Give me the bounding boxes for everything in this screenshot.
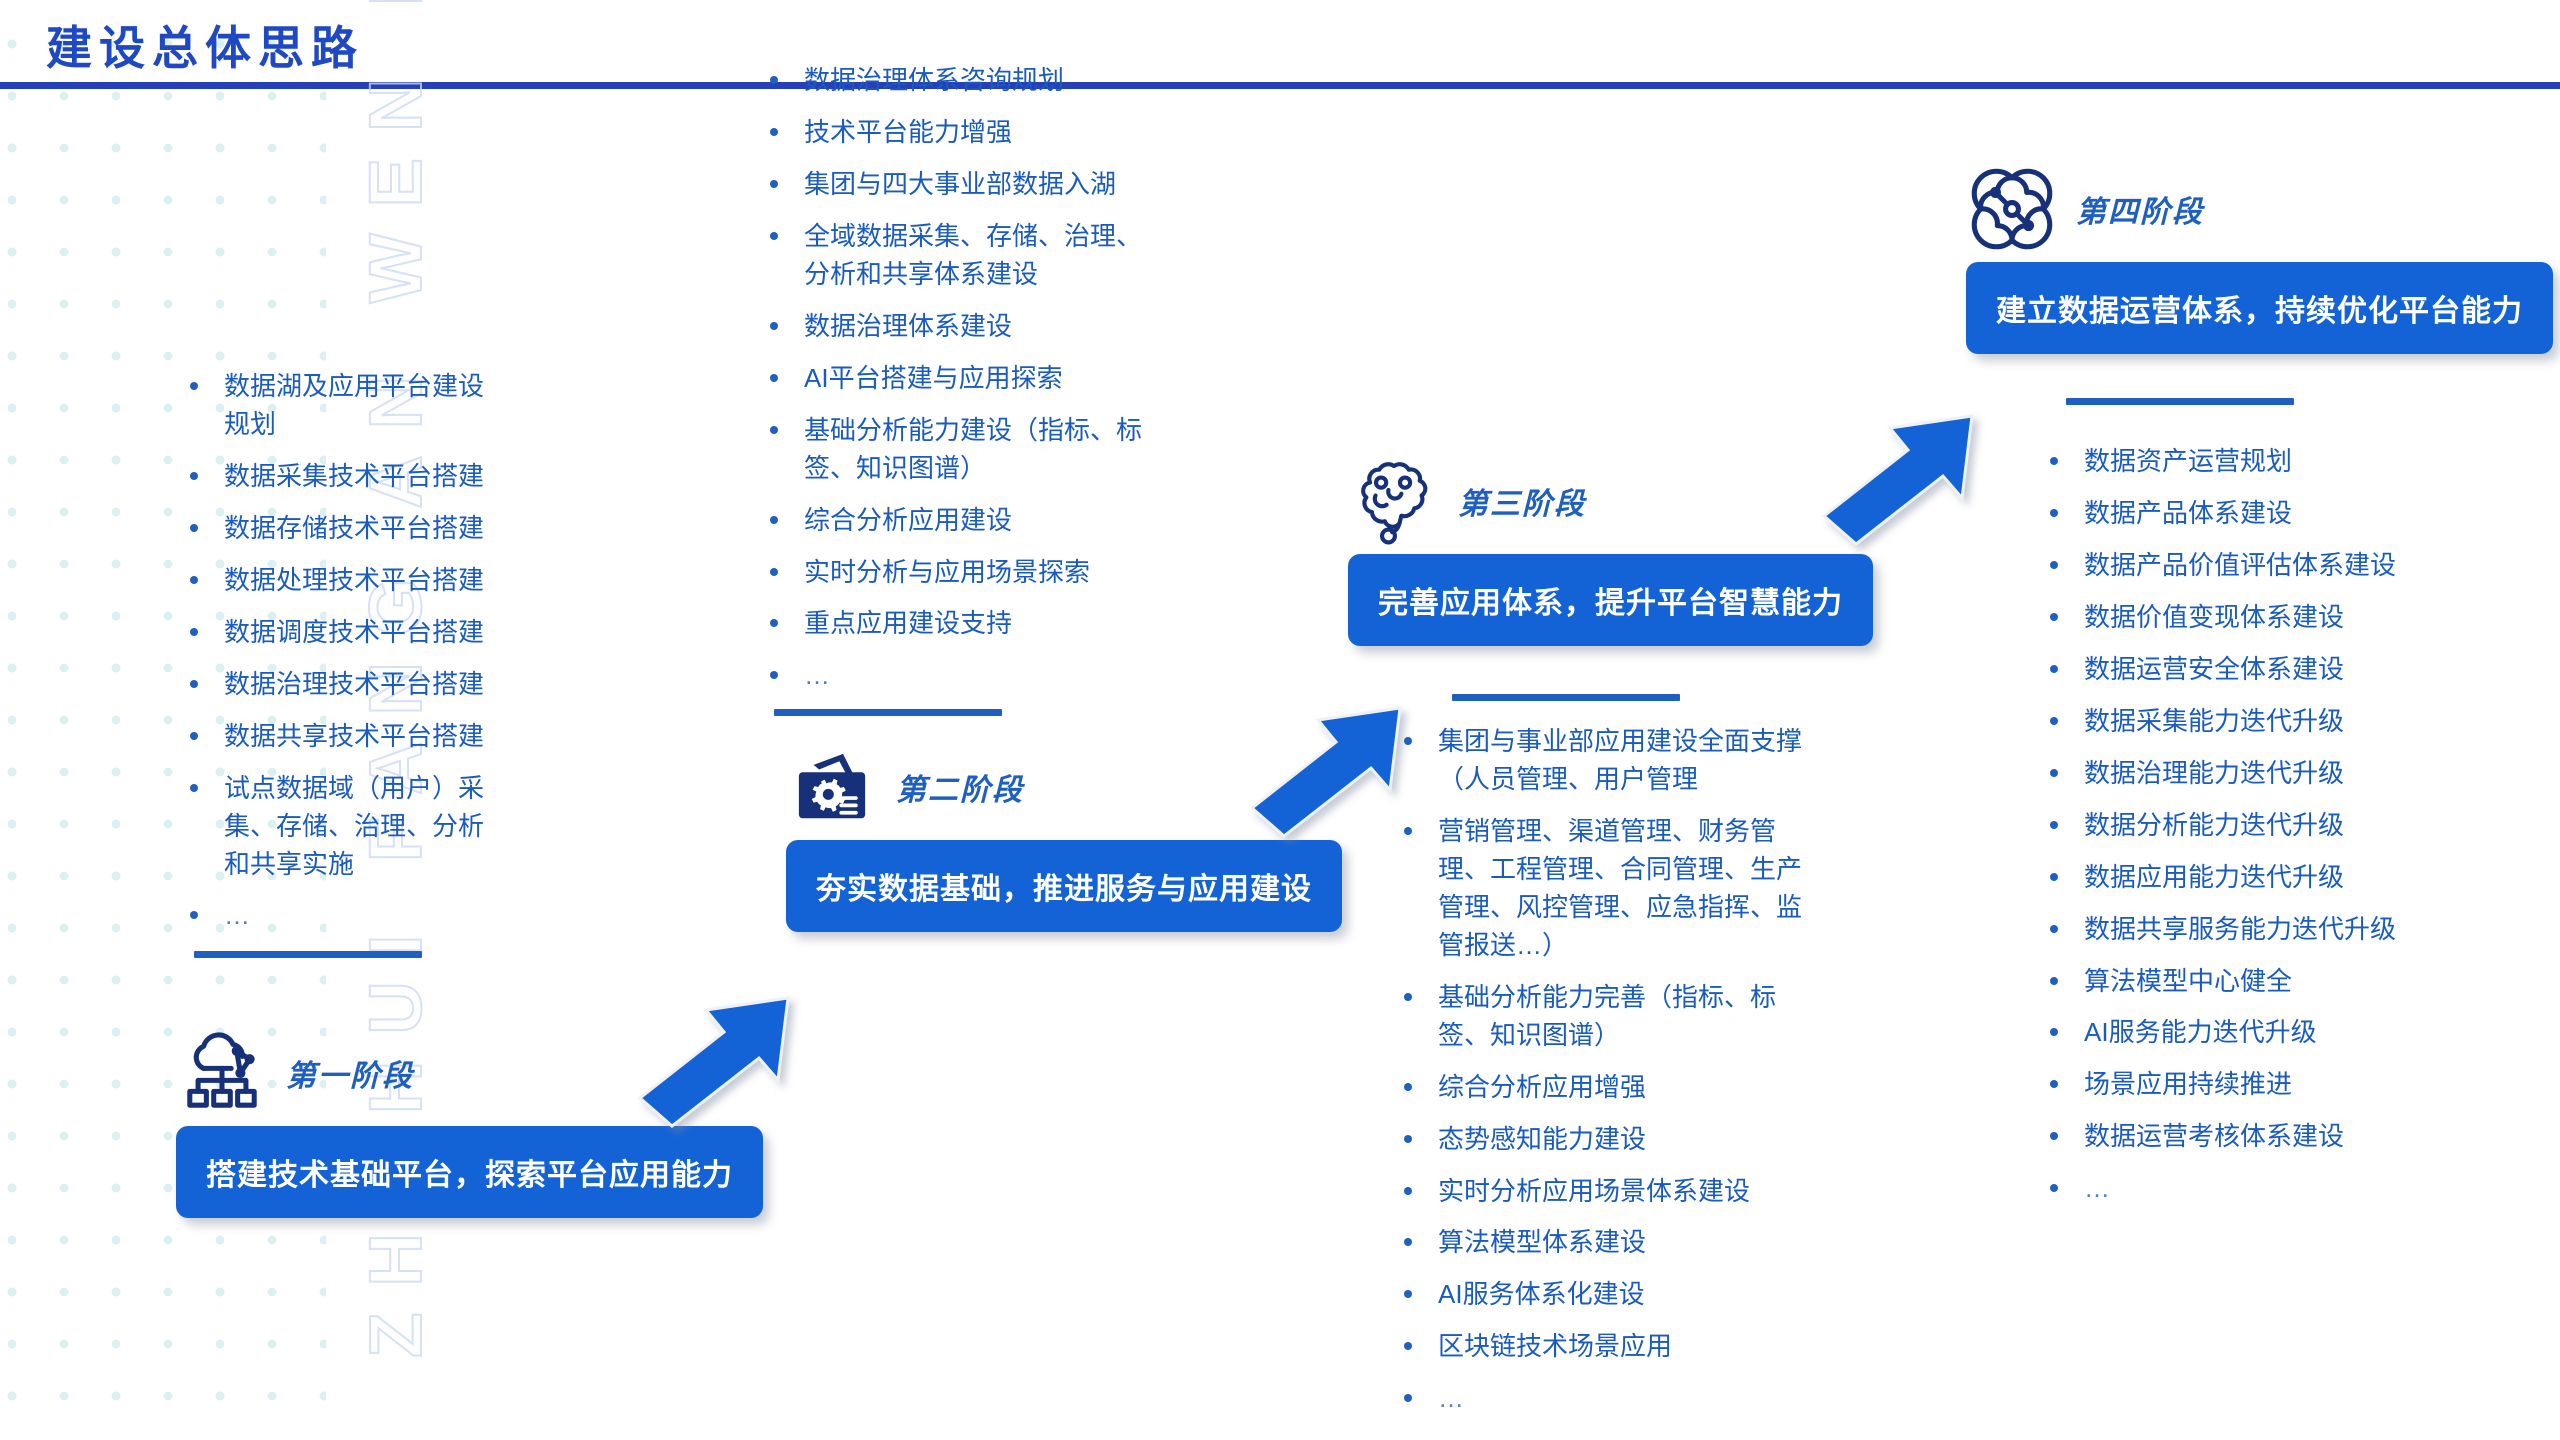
- list-item: 数据产品体系建设: [2042, 495, 2472, 533]
- stage-2-banner[interactable]: 夯实数据基础，推进服务与应用建设: [786, 840, 1342, 932]
- list-item: AI服务能力迭代升级: [2042, 1014, 2472, 1052]
- stage-4-column-divider: [2066, 398, 2294, 405]
- stage-3: 第三阶段 完善应用体系，提升平台智慧能力: [1348, 448, 1873, 646]
- list-item: AI平台搭建与应用探索: [762, 360, 1142, 398]
- stage-2-bullet-column: 数据治理体系咨询规划 技术平台能力增强 集团与四大事业部数据入湖 全域数据采集、…: [762, 62, 1142, 716]
- list-item: 综合分析应用增强: [1396, 1069, 1806, 1107]
- list-item: 数据调度技术平台搭建: [182, 614, 492, 652]
- page-title: 建设总体思路: [46, 12, 364, 78]
- list-item: 数据价值变现体系建设: [2042, 599, 2472, 637]
- list-item: 数据资产运营规划: [2042, 443, 2472, 481]
- list-item: 数据采集能力迭代升级: [2042, 703, 2472, 741]
- list-item: 算法模型中心健全: [2042, 963, 2472, 1001]
- list-item: 数据存储技术平台搭建: [182, 510, 492, 548]
- list-item: AI服务体系化建设: [1396, 1276, 1806, 1314]
- list-item: 实时分析应用场景体系建设: [1396, 1173, 1806, 1211]
- list-item: 数据治理能力迭代升级: [2042, 755, 2472, 793]
- list-item: 数据分析能力迭代升级: [2042, 807, 2472, 845]
- stage-1-bullet-list: 数据湖及应用平台建设规划 数据采集技术平台搭建 数据存储技术平台搭建 数据处理技…: [182, 368, 492, 935]
- stage-1-column-divider: [194, 951, 422, 958]
- toolbox-gear-icon: [786, 741, 878, 833]
- list-item: 数据采集技术平台搭建: [182, 458, 492, 496]
- list-item: …: [182, 897, 492, 935]
- list-item: 集团与四大事业部数据入湖: [762, 166, 1142, 204]
- atom-icon: [1966, 163, 2058, 255]
- stage-4-banner[interactable]: 建立数据运营体系，持续优化平台能力: [1966, 262, 2553, 354]
- list-item: 技术平台能力增强: [762, 114, 1142, 152]
- list-item: …: [2042, 1170, 2472, 1208]
- list-item: 重点应用建设支持: [762, 605, 1142, 643]
- list-item: 试点数据域（用户）采集、存储、治理、分析和共享实施: [182, 770, 492, 884]
- stage-2-bullet-list: 数据治理体系咨询规划 技术平台能力增强 集团与四大事业部数据入湖 全域数据采集、…: [762, 62, 1142, 695]
- list-item: 数据共享服务能力迭代升级: [2042, 911, 2472, 949]
- header-divider: [0, 82, 2560, 89]
- list-item: 数据应用能力迭代升级: [2042, 859, 2472, 897]
- stage-1-banner[interactable]: 搭建技术基础平台，探索平台应用能力: [176, 1126, 763, 1218]
- list-item: 基础分析能力完善（指标、标签、知识图谱）: [1396, 979, 1806, 1055]
- list-item: 数据运营考核体系建设: [2042, 1118, 2472, 1156]
- list-item: 综合分析应用建设: [762, 502, 1142, 540]
- list-item: 态势感知能力建设: [1396, 1121, 1806, 1159]
- list-item: 数据产品价值评估体系建设: [2042, 547, 2472, 585]
- stage-2-column-divider: [774, 709, 1002, 716]
- list-item: 数据治理技术平台搭建: [182, 666, 492, 704]
- arrow-stage2-to-stage3: [1240, 690, 1420, 840]
- arrow-stage3-to-stage4: [1812, 398, 1992, 548]
- list-item: 数据湖及应用平台建设规划: [182, 368, 492, 444]
- list-item: 场景应用持续推进: [2042, 1066, 2472, 1104]
- stage-3-column-divider: [1452, 694, 1680, 701]
- list-item: …: [762, 657, 1142, 695]
- stage-3-bullet-column: 集团与事业部应用建设全面支撑（人员管理、用户管理 营销管理、渠道管理、财务管理、…: [1396, 694, 1806, 1432]
- slide-header: 建设总体思路: [0, 0, 2560, 86]
- list-item: …: [1396, 1380, 1806, 1418]
- stage-3-label: 第三阶段: [1458, 479, 1586, 523]
- list-item: 数据共享技术平台搭建: [182, 718, 492, 756]
- arrow-stage1-to-stage2: [628, 980, 808, 1130]
- stage-3-bullet-list: 集团与事业部应用建设全面支撑（人员管理、用户管理 营销管理、渠道管理、财务管理、…: [1396, 723, 1806, 1418]
- stage-1-bullet-column: 数据湖及应用平台建设规划 数据采集技术平台搭建 数据存储技术平台搭建 数据处理技…: [182, 368, 492, 958]
- stage-1-label: 第一阶段: [286, 1051, 414, 1095]
- list-item: 数据治理体系建设: [762, 308, 1142, 346]
- list-item: 实时分析与应用场景探索: [762, 554, 1142, 592]
- stage-2-label: 第二阶段: [896, 765, 1024, 809]
- cloud-network-icon: [176, 1027, 268, 1119]
- brain-icon: [1348, 455, 1440, 547]
- stage-3-header: 第三阶段: [1348, 448, 1873, 554]
- list-item: 区块链技术场景应用: [1396, 1328, 1806, 1366]
- stage-4-bullet-column: 数据资产运营规划 数据产品体系建设 数据产品价值评估体系建设 数据价值变现体系建…: [2042, 398, 2472, 1222]
- slide-root: 建设总体思路 ZHI HUI FANG AN WEN KU 数据湖及应用平台建设…: [0, 0, 2560, 1440]
- list-item: 营销管理、渠道管理、财务管理、工程管理、合同管理、生产管理、风控管理、应急指挥、…: [1396, 813, 1806, 965]
- list-item: 全域数据采集、存储、治理、分析和共享体系建设: [762, 218, 1142, 294]
- stage-4-bullet-list: 数据资产运营规划 数据产品体系建设 数据产品价值评估体系建设 数据价值变现体系建…: [2042, 443, 2472, 1208]
- list-item: 数据处理技术平台搭建: [182, 562, 492, 600]
- list-item: 基础分析能力建设（指标、标签、知识图谱）: [762, 412, 1142, 488]
- list-item: 集团与事业部应用建设全面支撑（人员管理、用户管理: [1396, 723, 1806, 799]
- stage-4-header: 第四阶段: [1966, 156, 2553, 262]
- stage-4: 第四阶段 建立数据运营体系，持续优化平台能力: [1966, 156, 2553, 354]
- list-item: 数据治理体系咨询规划: [762, 62, 1142, 100]
- list-item: 数据运营安全体系建设: [2042, 651, 2472, 689]
- stage-4-label: 第四阶段: [2076, 187, 2204, 231]
- stage-3-banner[interactable]: 完善应用体系，提升平台智慧能力: [1348, 554, 1873, 646]
- list-item: 算法模型体系建设: [1396, 1224, 1806, 1262]
